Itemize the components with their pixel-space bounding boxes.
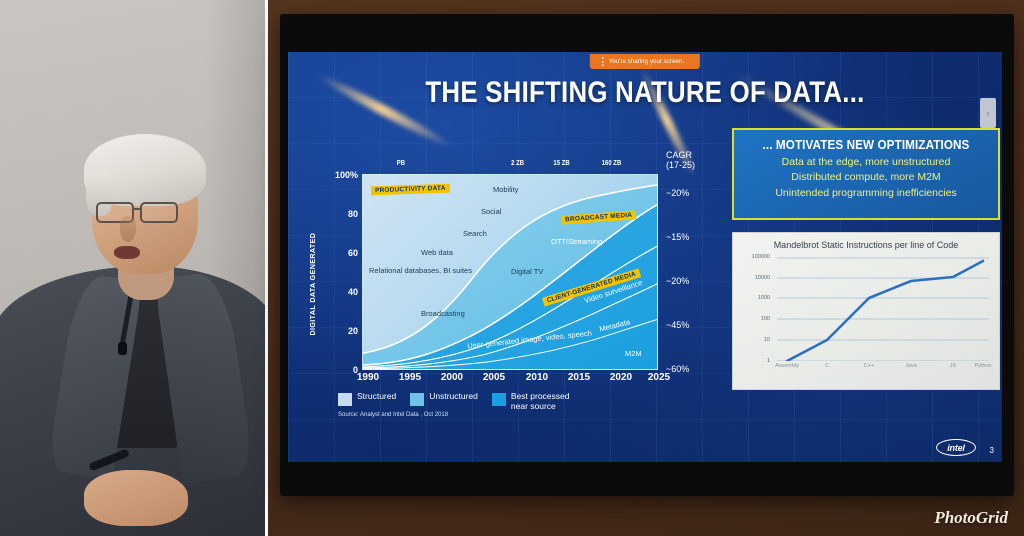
x-tick: Assembly — [775, 363, 799, 369]
cagr-value: ~20% — [666, 276, 689, 286]
mandelbrot-series-svg — [777, 257, 989, 361]
mandelbrot-line-chart: Mandelbrot Static Instructions per line … — [732, 232, 1000, 390]
point-label-ott: OTT/Streaming — [551, 237, 602, 246]
volume-label: 2 ZB — [511, 160, 524, 167]
slide-canvas: You're sharing your screen. THE SHIFTING… — [288, 52, 1002, 462]
cagr-value: ~45% — [666, 320, 689, 330]
x-tick: 2010 — [526, 372, 548, 383]
intel-logo: intel — [936, 439, 976, 456]
callout-line: Unintended programming inefficiencies — [734, 187, 998, 199]
volume-label: 15 ZB — [553, 160, 569, 167]
volume-label: PB — [397, 160, 405, 167]
eyeglasses-bridge — [134, 208, 142, 210]
cagr-value: ~20% — [666, 188, 689, 198]
cagr-column: CAGR (17-25) ~20% ~15% ~20% ~45% ~60% — [666, 150, 722, 400]
legend-item-best-processed: Best processed near source — [492, 392, 573, 411]
presenter-photo — [0, 0, 268, 536]
y-tick: 10 — [764, 337, 770, 343]
digital-data-area-chart: PB 2 ZB 15 ZB 160 ZB DIGITAL DATA GENERA… — [310, 160, 660, 420]
legend-item-unstructured: Unstructured — [410, 392, 478, 406]
point-label-digital-tv: Digital TV — [511, 267, 543, 276]
x-tick: JS — [950, 363, 956, 369]
drag-handle-icon[interactable] — [602, 57, 604, 66]
screen-share-banner-label: You're sharing your screen. — [609, 59, 684, 65]
callout-line: Distributed compute, more M2M — [734, 171, 998, 183]
legend-swatch-structured — [338, 393, 352, 406]
speaker-nose — [120, 216, 136, 242]
mandelbrot-chart-title: Mandelbrot Static Instructions per line … — [733, 233, 999, 250]
x-tick: Java — [905, 363, 917, 369]
y-tick: 1000 — [758, 295, 770, 301]
television-screen: You're sharing your screen. THE SHIFTING… — [286, 50, 1004, 464]
area-chart-plot: PRODUCTIVITY DATA BROADCAST MEDIA CLIENT… — [362, 174, 658, 370]
x-tick: 2020 — [610, 372, 632, 383]
y-tick: 10000 — [755, 275, 770, 281]
mandelbrot-y-axis: 1 10 100 1000 10000 100000 — [733, 257, 773, 361]
screen-share-banner[interactable]: You're sharing your screen. — [590, 54, 700, 69]
optimizations-callout: ... MOTIVATES NEW OPTIMIZATIONS Data at … — [732, 128, 1000, 220]
photo-collage: You're sharing your screen. THE SHIFTING… — [0, 0, 1024, 536]
legend-label: Best processed near source — [511, 392, 573, 411]
volume-label: 160 ZB — [602, 160, 622, 167]
y-tick: 60 — [348, 248, 358, 258]
speaker-mouth — [114, 246, 140, 259]
legend-item-structured: Structured — [338, 392, 396, 406]
legend-label: Unstructured — [429, 392, 478, 402]
presentation-photo: You're sharing your screen. THE SHIFTING… — [268, 0, 1024, 536]
point-label-m2m: M2M — [625, 349, 642, 358]
y-tick: 100 — [761, 316, 770, 322]
next-slide-control[interactable]: › — [980, 98, 996, 128]
x-tick: C++ — [864, 363, 874, 369]
point-label-search: Search — [463, 229, 487, 238]
cagr-value: ~15% — [666, 232, 689, 242]
x-axis-ticks: 1990 1995 2000 2005 2010 2015 2020 2025 — [362, 372, 662, 388]
y-axis-label: DIGITAL DATA GENERATED — [308, 233, 317, 336]
y-tick: 100000 — [752, 254, 770, 260]
x-tick: 2000 — [441, 372, 463, 383]
chart-legend: Structured Unstructured Best processed n… — [338, 392, 668, 411]
lapel-microphone — [118, 342, 127, 355]
x-tick: 1995 — [399, 372, 421, 383]
instructions-per-line-series — [787, 261, 983, 361]
cagr-header-line2: (17-25) — [666, 160, 722, 170]
point-label-mobility: Mobility — [493, 185, 518, 194]
speaker-figure — [0, 118, 268, 536]
legend-swatch-unstructured — [410, 393, 424, 406]
data-volume-annotations: PB 2 ZB 15 ZB 160 ZB — [362, 160, 658, 174]
legend-label: Structured — [357, 392, 396, 402]
cagr-header-line1: CAGR — [666, 150, 722, 160]
slide-title: THE SHIFTING NATURE OF DATA... — [338, 76, 952, 110]
y-tick: 80 — [348, 209, 358, 219]
y-tick: 20 — [348, 326, 358, 336]
y-tick: 1 — [767, 358, 770, 364]
slide-number: 3 — [990, 446, 994, 455]
x-tick: 2015 — [568, 372, 590, 383]
x-tick: C — [825, 363, 829, 369]
x-tick: 1990 — [357, 372, 379, 383]
y-axis-ticks: 0 20 40 60 80 100% — [324, 174, 360, 370]
legend-swatch-best-processed — [492, 393, 506, 406]
point-label-relational: Relational databases, BI suites — [369, 267, 417, 276]
photogrid-watermark: PhotoGrid — [934, 508, 1008, 528]
speaker-hands — [84, 470, 188, 526]
cagr-value: ~60% — [666, 364, 689, 374]
point-label-web-data: Web data — [421, 249, 453, 257]
x-tick: 2005 — [483, 372, 505, 383]
y-tick: 40 — [348, 287, 358, 297]
callout-line: Data at the edge, more unstructured — [734, 156, 998, 168]
mandelbrot-x-axis: Assembly C C++ Java JS Python — [777, 363, 989, 377]
point-label-social: Social — [481, 207, 501, 216]
y-tick: 100% — [335, 170, 358, 180]
mandelbrot-plot — [777, 257, 989, 361]
cagr-header: CAGR (17-25) — [666, 150, 722, 170]
callout-heading: ... MOTIVATES NEW OPTIMIZATIONS — [747, 137, 985, 152]
point-label-broadcasting: Broadcasting — [421, 309, 465, 318]
x-tick: Python — [974, 363, 991, 369]
chart-source-note: Source: Analyst and Intel Data , Oct 201… — [338, 412, 448, 418]
eyeglasses-right-lens — [140, 202, 178, 223]
